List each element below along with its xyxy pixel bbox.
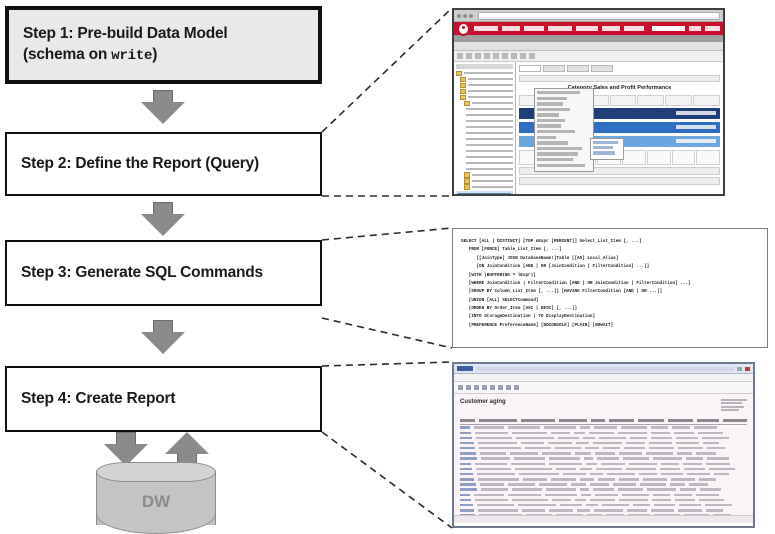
report-table-cell bbox=[514, 457, 545, 459]
folder-icon bbox=[464, 172, 470, 177]
report-table-cell bbox=[660, 468, 680, 470]
tree-node bbox=[456, 131, 513, 136]
connector-step4-top bbox=[322, 362, 452, 366]
report-table-cell bbox=[678, 447, 703, 449]
arrow-step3-to-step4 bbox=[141, 320, 185, 354]
context-menu[interactable] bbox=[534, 88, 594, 172]
report-table-cell bbox=[460, 452, 476, 454]
report-table-cell bbox=[512, 488, 542, 490]
report-table-cell bbox=[613, 483, 636, 485]
report-table-cell bbox=[478, 478, 519, 480]
report-table-cell bbox=[679, 504, 701, 506]
report-table-cell bbox=[601, 463, 625, 465]
report-table-cell bbox=[661, 463, 679, 465]
report-table-cell bbox=[649, 447, 674, 449]
report-table-cell bbox=[546, 488, 576, 490]
report-table-cell bbox=[460, 488, 477, 490]
tree-node bbox=[456, 101, 513, 106]
report-table-cell bbox=[460, 468, 472, 470]
report-table-cell bbox=[640, 483, 666, 485]
report-table-cell bbox=[675, 499, 695, 501]
report-table-cell bbox=[508, 426, 540, 428]
report-table-cell bbox=[577, 509, 590, 511]
object-tree-panel[interactable] bbox=[454, 62, 516, 196]
report-table-cell bbox=[651, 437, 672, 439]
report-table-cell bbox=[699, 478, 716, 480]
report-table-cell bbox=[714, 473, 729, 475]
tree-node bbox=[456, 113, 513, 118]
viewer-toolbar[interactable] bbox=[454, 382, 753, 394]
report-table-cell bbox=[623, 457, 649, 459]
report-table-cell bbox=[653, 494, 670, 496]
canvas-tabs[interactable] bbox=[519, 65, 720, 72]
report-table-cell bbox=[521, 442, 544, 444]
connector-step4-bottom bbox=[322, 432, 452, 528]
report-table-cell bbox=[619, 478, 639, 480]
report-table-cell bbox=[694, 426, 717, 428]
report-table-cell bbox=[624, 447, 645, 449]
report-table-cell bbox=[646, 452, 673, 454]
step-3-label: Step 3: Generate SQL Commands bbox=[7, 263, 263, 284]
report-table-rows bbox=[460, 425, 747, 523]
folder-icon bbox=[456, 71, 462, 76]
report-table-cell bbox=[706, 509, 723, 511]
report-table-cell bbox=[696, 494, 719, 496]
report-table-cell bbox=[460, 426, 470, 428]
designer-toolbar[interactable] bbox=[454, 51, 723, 62]
report-table-cell bbox=[586, 463, 597, 465]
connector-step3-top bbox=[322, 228, 452, 240]
app-breadcrumb-bar bbox=[454, 42, 723, 51]
report-table-cell bbox=[586, 504, 598, 506]
viewer-app-icon bbox=[457, 366, 473, 371]
report-table-cell bbox=[580, 426, 590, 428]
report-table-cell bbox=[702, 437, 729, 439]
report-table-cell bbox=[602, 504, 629, 506]
report-table-cell bbox=[689, 483, 708, 485]
report-table-cell bbox=[626, 442, 645, 444]
tree-node bbox=[456, 155, 513, 160]
report-table-cell bbox=[474, 426, 504, 428]
viewer-status-bar bbox=[454, 515, 753, 523]
report-table-cell bbox=[480, 483, 504, 485]
report-table-cell bbox=[596, 468, 622, 470]
tree-node bbox=[456, 137, 513, 142]
report-table-cell bbox=[643, 478, 667, 480]
report-table-cell bbox=[698, 432, 723, 434]
arrow-step1-to-step2 bbox=[141, 90, 185, 124]
tree-node bbox=[456, 185, 513, 190]
report-table-cell bbox=[542, 452, 571, 454]
report-table-cell bbox=[594, 426, 617, 428]
report-table-cell bbox=[580, 468, 592, 470]
report-table-cell bbox=[680, 488, 696, 490]
report-table-cell bbox=[580, 478, 594, 480]
arrow-step2-to-step3 bbox=[141, 202, 185, 236]
step-2-label: Step 2: Define the Report (Query) bbox=[7, 154, 259, 175]
diagram-canvas: Step 1: Pre-build Data Model (schema on … bbox=[0, 0, 775, 534]
report-table-cell bbox=[619, 452, 642, 454]
step-1-box[interactable]: Step 1: Pre-build Data Model (schema on … bbox=[5, 6, 322, 84]
report-table-cell bbox=[479, 447, 521, 449]
report-table-cell bbox=[674, 432, 694, 434]
report-designer-screenshot[interactable]: Category Sales and Profit Performance bbox=[452, 8, 725, 196]
report-table-cell bbox=[583, 437, 595, 439]
report-table-cell bbox=[709, 468, 735, 470]
report-canvas[interactable]: Category Sales and Profit Performance bbox=[516, 62, 723, 196]
report-table-cell bbox=[651, 426, 668, 428]
tree-node bbox=[456, 161, 513, 166]
report-table-cell bbox=[651, 432, 670, 434]
report-table-cell bbox=[630, 437, 647, 439]
report-table-cell bbox=[580, 488, 589, 490]
report-table-cell bbox=[475, 432, 508, 434]
report-table-cell bbox=[676, 437, 698, 439]
report-table-cell bbox=[686, 457, 703, 459]
report-table-cell bbox=[677, 452, 692, 454]
report-table-cell bbox=[474, 494, 504, 496]
report-table-cell bbox=[598, 478, 615, 480]
app-secondary-bar bbox=[454, 35, 723, 42]
step-1-label: Step 1: Pre-build Data Model (schema on … bbox=[9, 24, 228, 66]
report-table-cell bbox=[652, 499, 671, 501]
folder-icon bbox=[460, 95, 466, 100]
designer-body: Category Sales and Profit Performance bbox=[454, 62, 723, 196]
report-table-cell bbox=[481, 457, 510, 459]
data-warehouse-cylinder[interactable]: DW bbox=[96, 462, 216, 534]
viewer-title-bar bbox=[454, 364, 753, 374]
arrow-step4-to-dw bbox=[104, 432, 148, 466]
report-table-cell bbox=[590, 499, 615, 501]
report-table-cell bbox=[575, 499, 586, 501]
report-table-cell bbox=[525, 447, 551, 449]
report-table-cell bbox=[475, 499, 508, 501]
report-table-cell bbox=[584, 457, 593, 459]
report-table-cell bbox=[460, 504, 473, 506]
app-brand-bar bbox=[454, 22, 723, 35]
sql-syntax-screenshot[interactable]: SELECT [ALL | DISTINCT] [TOP nExpr [PERC… bbox=[452, 228, 768, 348]
report-table-cell bbox=[683, 463, 702, 465]
tree-node bbox=[456, 83, 513, 88]
report-table-cell bbox=[552, 499, 571, 501]
tree-panel-header bbox=[456, 64, 513, 69]
tree-node-selected[interactable] bbox=[456, 191, 513, 196]
report-table-cell bbox=[515, 468, 552, 470]
report-table-cell bbox=[519, 473, 559, 475]
report-table-cell bbox=[476, 437, 512, 439]
report-table-cell bbox=[707, 457, 729, 459]
report-table-cell bbox=[475, 463, 507, 465]
report-table-cell bbox=[508, 494, 541, 496]
tab-designer bbox=[519, 65, 541, 72]
connector-step2-top bbox=[322, 8, 452, 132]
report-table-cell bbox=[696, 452, 716, 454]
folder-icon bbox=[460, 89, 466, 94]
folder-icon bbox=[460, 77, 466, 82]
folder-icon bbox=[460, 83, 466, 88]
report-table-cell bbox=[575, 452, 591, 454]
report-table-cell bbox=[571, 483, 586, 485]
tree-node bbox=[456, 149, 513, 154]
report-table-cell bbox=[699, 499, 724, 501]
report-table-cell bbox=[654, 504, 675, 506]
step-4-label: Step 4: Create Report bbox=[7, 389, 175, 410]
browser-back-icon bbox=[457, 14, 461, 18]
tab-preview bbox=[543, 65, 565, 72]
report-table-cell bbox=[622, 494, 649, 496]
report-table-cell bbox=[522, 509, 545, 511]
report-table-cell bbox=[619, 499, 648, 501]
report-table-cell bbox=[633, 504, 650, 506]
report-table-cell bbox=[687, 473, 710, 475]
tree-node bbox=[456, 95, 513, 100]
report-table-cell bbox=[511, 463, 545, 465]
step-4-box[interactable]: Step 4: Create Report bbox=[5, 366, 322, 432]
viewer-report-body: Customer aging bbox=[454, 394, 753, 523]
schema-on-write-mono: write bbox=[111, 48, 152, 64]
report-table-cell bbox=[460, 483, 476, 485]
folder-icon bbox=[464, 178, 470, 183]
report-table-cell bbox=[603, 447, 620, 449]
report-table-cell bbox=[653, 457, 682, 459]
report-table-cell bbox=[478, 509, 518, 511]
report-table-cell bbox=[460, 509, 474, 511]
report-table-cell bbox=[706, 463, 730, 465]
tree-node bbox=[456, 107, 513, 112]
tree-node bbox=[456, 143, 513, 148]
report-table-cell bbox=[556, 468, 576, 470]
report-table-cell bbox=[460, 463, 471, 465]
report-table-cell bbox=[460, 447, 475, 449]
report-table-cell bbox=[551, 478, 576, 480]
report-table-cell bbox=[508, 483, 535, 485]
report-meta-block bbox=[721, 399, 747, 413]
report-table-cell bbox=[676, 442, 699, 444]
tree-node bbox=[456, 89, 513, 94]
report-table-cell bbox=[661, 473, 683, 475]
report-table-cell bbox=[560, 504, 582, 506]
report-table-cell bbox=[512, 499, 548, 501]
report-table-cell bbox=[595, 452, 615, 454]
report-table-cell bbox=[684, 468, 705, 470]
report-table-cell bbox=[460, 494, 470, 496]
context-submenu[interactable] bbox=[590, 138, 624, 160]
report-status-row bbox=[519, 177, 720, 185]
report-table-cell bbox=[590, 483, 609, 485]
report-table-cell bbox=[460, 473, 473, 475]
report-table-cell bbox=[671, 478, 695, 480]
report-table-cell bbox=[581, 494, 591, 496]
report-table-cell bbox=[589, 432, 614, 434]
report-table-cell bbox=[703, 442, 719, 444]
app-logo-icon bbox=[457, 22, 470, 36]
report-table-cell bbox=[460, 442, 474, 444]
report-table-cell bbox=[639, 473, 657, 475]
report-table-cell bbox=[593, 488, 614, 490]
report-table-cell bbox=[518, 504, 556, 506]
report-table-cell bbox=[594, 509, 623, 511]
report-table-cell bbox=[460, 457, 477, 459]
report-table-cell bbox=[670, 483, 685, 485]
customer-aging-report-screenshot[interactable]: Customer aging bbox=[452, 362, 755, 528]
step-2-box[interactable]: Step 2: Define the Report (Query) bbox=[5, 132, 322, 196]
report-table-cell bbox=[700, 488, 721, 490]
tree-node bbox=[456, 71, 513, 76]
report-table-cell bbox=[481, 488, 508, 490]
report-table-cell bbox=[555, 447, 581, 449]
connector-step3-bottom bbox=[322, 318, 452, 348]
report-table-cell bbox=[649, 442, 672, 444]
report-table-cell bbox=[539, 483, 567, 485]
browser-url-bar[interactable] bbox=[478, 12, 720, 20]
report-table-cell bbox=[544, 426, 576, 428]
report-table-cell bbox=[590, 473, 603, 475]
step-3-box[interactable]: Step 3: Generate SQL Commands bbox=[5, 240, 322, 306]
report-table-cell bbox=[674, 494, 692, 496]
customer-aging-title: Customer aging bbox=[460, 399, 747, 405]
report-table-cell bbox=[597, 457, 619, 459]
report-table-cell bbox=[607, 473, 635, 475]
data-warehouse-label: DW bbox=[96, 462, 216, 534]
tab-properties bbox=[567, 65, 589, 72]
browser-forward-icon bbox=[463, 14, 467, 18]
report-table-cell bbox=[549, 457, 580, 459]
viewer-menu-bar[interactable] bbox=[454, 374, 753, 382]
report-table-cell bbox=[595, 494, 618, 496]
report-table-cell bbox=[574, 432, 585, 434]
report-table-cell bbox=[545, 494, 577, 496]
report-table-cell bbox=[678, 509, 702, 511]
tab-query bbox=[591, 65, 613, 72]
folder-icon bbox=[464, 101, 470, 106]
report-table-cell bbox=[512, 432, 547, 434]
report-table-cell bbox=[523, 478, 547, 480]
tree-node bbox=[456, 125, 513, 130]
report-table-cell bbox=[510, 452, 538, 454]
browser-chrome bbox=[454, 10, 723, 22]
sql-syntax-text: SELECT [ALL | DISTINCT] [TOP nExpr [PERC… bbox=[453, 229, 767, 330]
report-table-cell bbox=[647, 488, 676, 490]
report-table-cell bbox=[618, 432, 647, 434]
report-table-cell bbox=[651, 509, 674, 511]
report-table-cell bbox=[551, 432, 570, 434]
report-table-cell bbox=[460, 499, 471, 501]
report-table-cell bbox=[460, 432, 471, 434]
report-table-cell bbox=[705, 504, 732, 506]
report-table-cell bbox=[549, 463, 582, 465]
report-table-cell bbox=[480, 452, 506, 454]
tree-node bbox=[456, 167, 513, 172]
report-table-cell bbox=[460, 437, 472, 439]
report-table-cell bbox=[548, 442, 572, 444]
report-table-cell bbox=[621, 426, 647, 428]
report-table-cell bbox=[626, 468, 656, 470]
arrow-dw-to-step4 bbox=[165, 432, 209, 466]
tree-node bbox=[456, 179, 513, 184]
report-table-cell bbox=[593, 442, 622, 444]
report-table-cell bbox=[707, 447, 725, 449]
tree-node bbox=[456, 77, 513, 82]
report-table-cell bbox=[476, 468, 511, 470]
report-table-cell bbox=[477, 473, 515, 475]
report-table-cell bbox=[477, 504, 514, 506]
report-table-cell bbox=[576, 442, 589, 444]
report-table-cell bbox=[618, 488, 643, 490]
report-table-cell bbox=[599, 437, 626, 439]
report-table-cell bbox=[585, 447, 599, 449]
report-table-cell bbox=[627, 509, 647, 511]
report-table-cell bbox=[558, 437, 579, 439]
report-table-cell bbox=[549, 509, 573, 511]
report-table-cell bbox=[460, 478, 474, 480]
tree-node bbox=[456, 173, 513, 178]
folder-icon bbox=[464, 184, 470, 189]
report-table-cell bbox=[563, 473, 586, 475]
browser-reload-icon bbox=[469, 14, 473, 18]
report-table-cell bbox=[516, 437, 554, 439]
tree-node bbox=[456, 119, 513, 124]
report-table-cell bbox=[478, 442, 517, 444]
report-table-cell bbox=[672, 426, 690, 428]
report-table-cell bbox=[629, 463, 657, 465]
